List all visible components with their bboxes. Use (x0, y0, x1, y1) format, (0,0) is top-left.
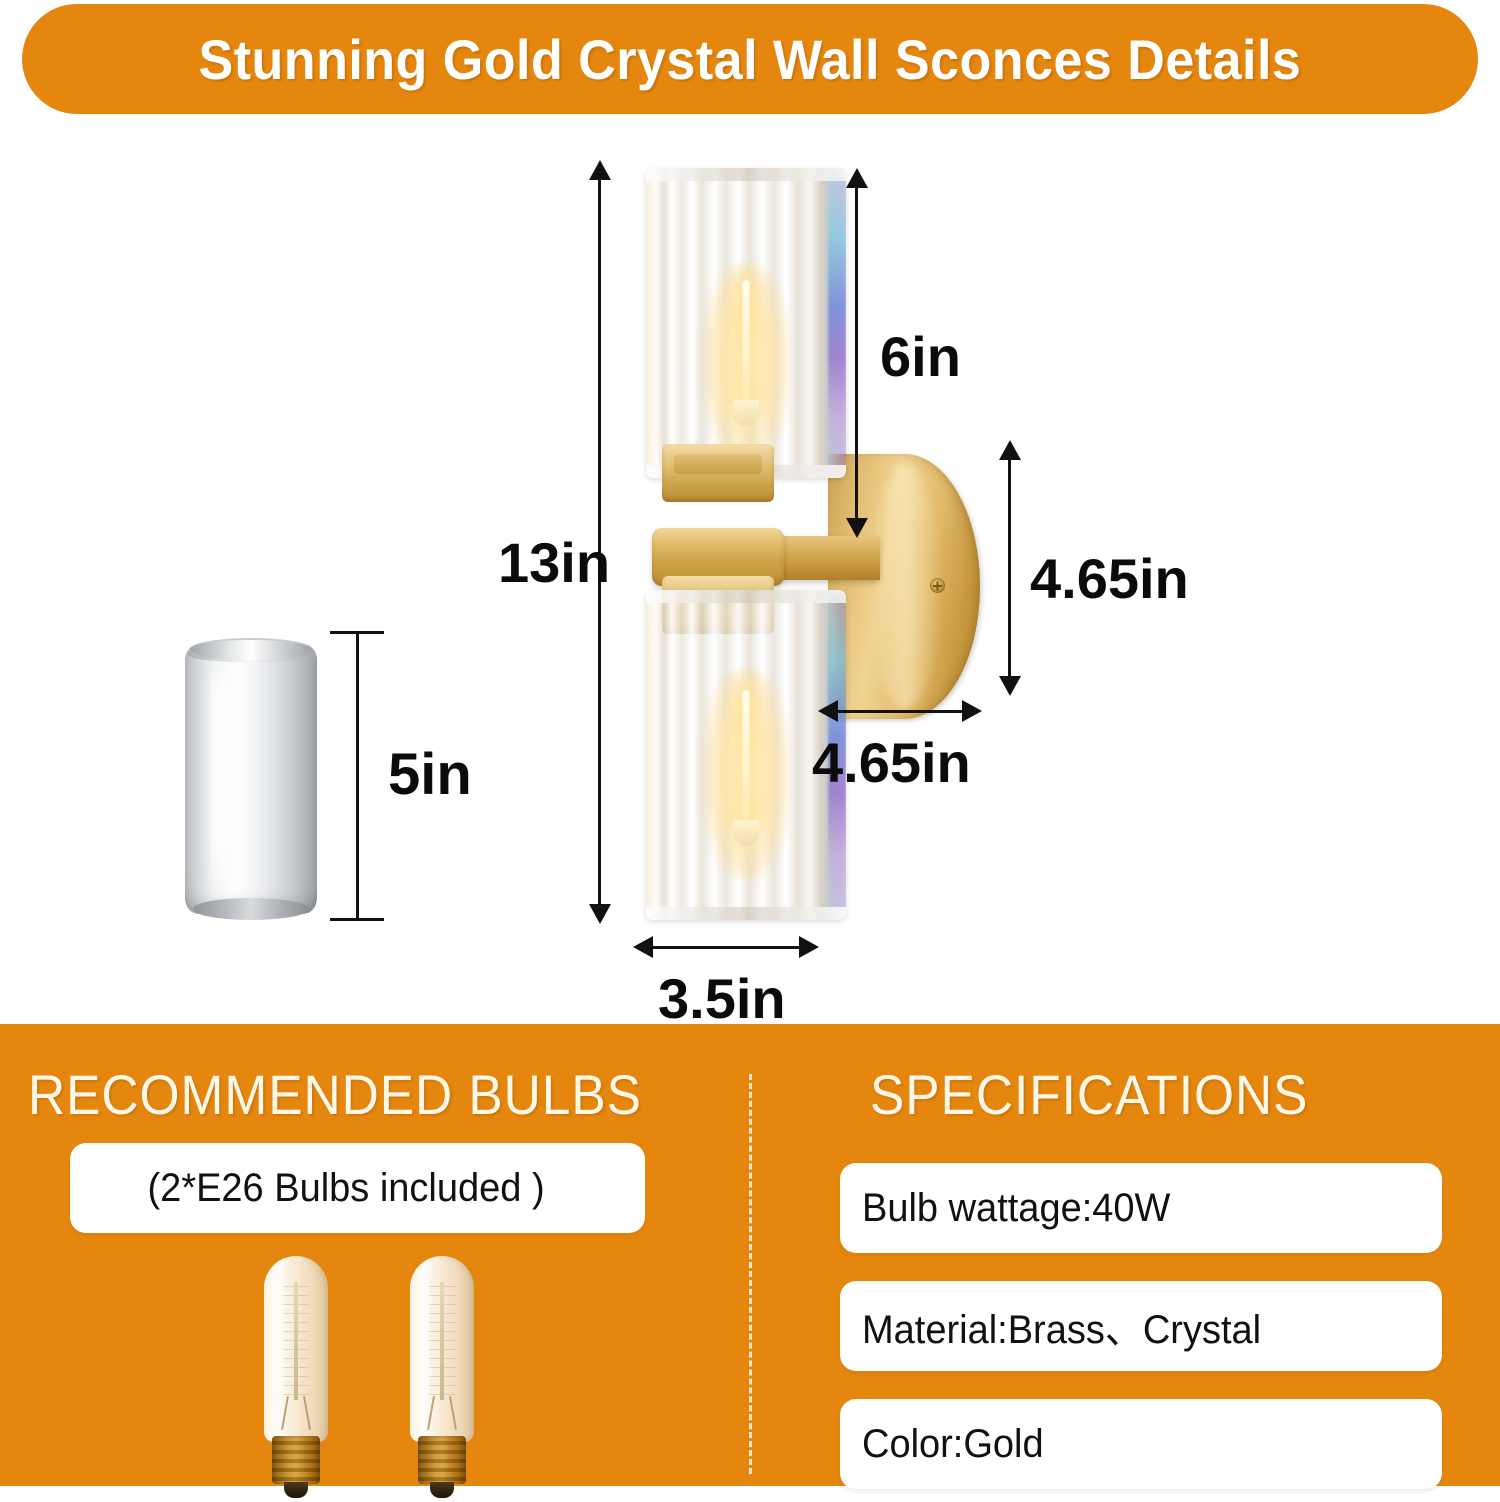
bulb-e26-base-1 (272, 1436, 320, 1484)
dim-label-depth: 4.65in (812, 730, 971, 795)
can-dim-line (356, 631, 359, 921)
shade-rim-top (646, 168, 846, 181)
prism-edge-top (828, 168, 846, 478)
shade-rim-bottom (646, 907, 846, 920)
can-body (185, 644, 317, 914)
dim-label-top-section-height: 6in (880, 324, 961, 389)
spec-row-bulb-wattage: Bulb wattage:40W (840, 1163, 1442, 1253)
dim-line-backplate-height (1008, 456, 1011, 682)
bottom-info-panel: RECOMMENDED BULBS (2*E26 Bulbs included … (0, 1024, 1500, 1486)
sconce-backplate (828, 454, 980, 719)
dim-line-depth (836, 710, 964, 713)
edison-bulb-icon-2 (410, 1256, 474, 1502)
dim-label-backplate-height: 4.65in (1030, 546, 1189, 611)
can-highlight (211, 656, 227, 902)
specifications-heading: SPECIFICATIONS (870, 1062, 1308, 1127)
spec-row-color: Color:Gold (840, 1399, 1442, 1489)
spec-label-color: Color:Gold (862, 1422, 1044, 1467)
dim-label-total-height: 13in (498, 530, 610, 595)
dim-arrow-width-right (799, 936, 819, 958)
recommended-bulbs-heading: RECOMMENDED BULBS (28, 1062, 642, 1127)
bulb-glass-2 (410, 1256, 474, 1442)
bulb-support-wires-2 (427, 1396, 457, 1430)
dim-arrow-depth-left (818, 700, 838, 722)
dim-arrow-6in-bottom (846, 518, 868, 538)
wall-sconce-illustration (600, 138, 1020, 988)
bulb-contact-tip-2 (430, 1482, 454, 1498)
dim-line-width (651, 946, 801, 949)
spec-row-material: Material:Brass、Crystal (840, 1281, 1442, 1371)
dim-label-can-height: 5in (388, 741, 472, 808)
dim-label-width: 3.5in (658, 966, 786, 1031)
dim-line-6in (855, 184, 858, 524)
dim-arrow-backplate-bottom (999, 676, 1021, 696)
spec-label-bulb-wattage: Bulb wattage:40W (862, 1186, 1170, 1231)
bulb-neck-top (733, 400, 759, 426)
bulb-contact-tip-1 (284, 1482, 308, 1498)
dim-arrow-depth-right (962, 700, 982, 722)
bulb-glass-1 (264, 1256, 328, 1442)
dim-arrow-width-left (633, 936, 653, 958)
bulb-filament-bottom (743, 690, 750, 820)
gold-socket-top (674, 454, 762, 474)
soda-can-reference (185, 630, 317, 920)
bulb-filament-1 (294, 1282, 298, 1400)
can-bottom (193, 898, 309, 920)
crystal-shade-top (646, 168, 846, 478)
bulb-support-wires-1 (281, 1396, 311, 1430)
product-dimension-diagram: 5in 13in 6i (0, 118, 1500, 1024)
edison-bulb-icon-1 (264, 1256, 328, 1502)
header-banner: Stunning Gold Crystal Wall Sconces Detai… (22, 4, 1478, 114)
bulb-filament-top (743, 280, 750, 400)
can-top-lid (190, 638, 312, 660)
spec-label-material: Material:Brass、Crystal (862, 1297, 1261, 1355)
backplate-screw (930, 578, 945, 593)
page-title: Stunning Gold Crystal Wall Sconces Detai… (199, 27, 1302, 92)
section-divider (749, 1074, 752, 1474)
shade-rim-top-bottom (646, 590, 846, 603)
bulbs-included-label: (2*E26 Bulbs included ) (138, 1166, 554, 1211)
bulb-neck-bottom (733, 820, 759, 846)
bulb-filament-2 (440, 1282, 444, 1400)
bulb-e26-base-2 (418, 1436, 466, 1484)
bulbs-included-note: (2*E26 Bulbs included ) (70, 1143, 645, 1233)
